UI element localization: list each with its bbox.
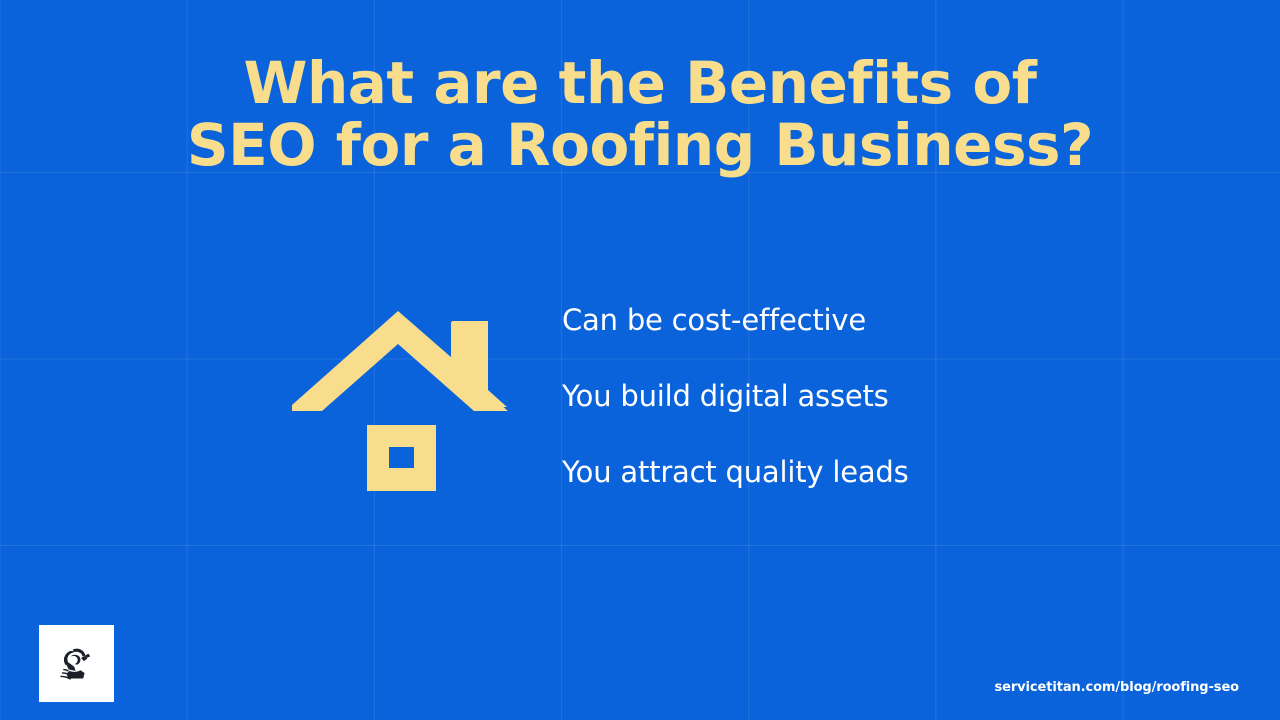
benefits-list: Can be cost-effective You build digital … — [562, 303, 1122, 531]
slide-canvas: What are the Benefits of SEO for a Roofi… — [0, 0, 1280, 720]
list-item: You attract quality leads — [562, 455, 1122, 531]
house-roof-icon — [288, 305, 512, 497]
title-line-1: What are the Benefits of — [0, 52, 1280, 114]
title-line-2: SEO for a Roofing Business? — [0, 114, 1280, 176]
logo-container — [39, 625, 114, 702]
source-url: servicetitan.com/blog/roofing-seo — [995, 680, 1239, 695]
list-item: You build digital assets — [562, 379, 1122, 455]
list-item: Can be cost-effective — [562, 303, 1122, 379]
page-title: What are the Benefits of SEO for a Roofi… — [0, 52, 1280, 176]
servicetitan-titan-head-icon — [55, 642, 99, 686]
